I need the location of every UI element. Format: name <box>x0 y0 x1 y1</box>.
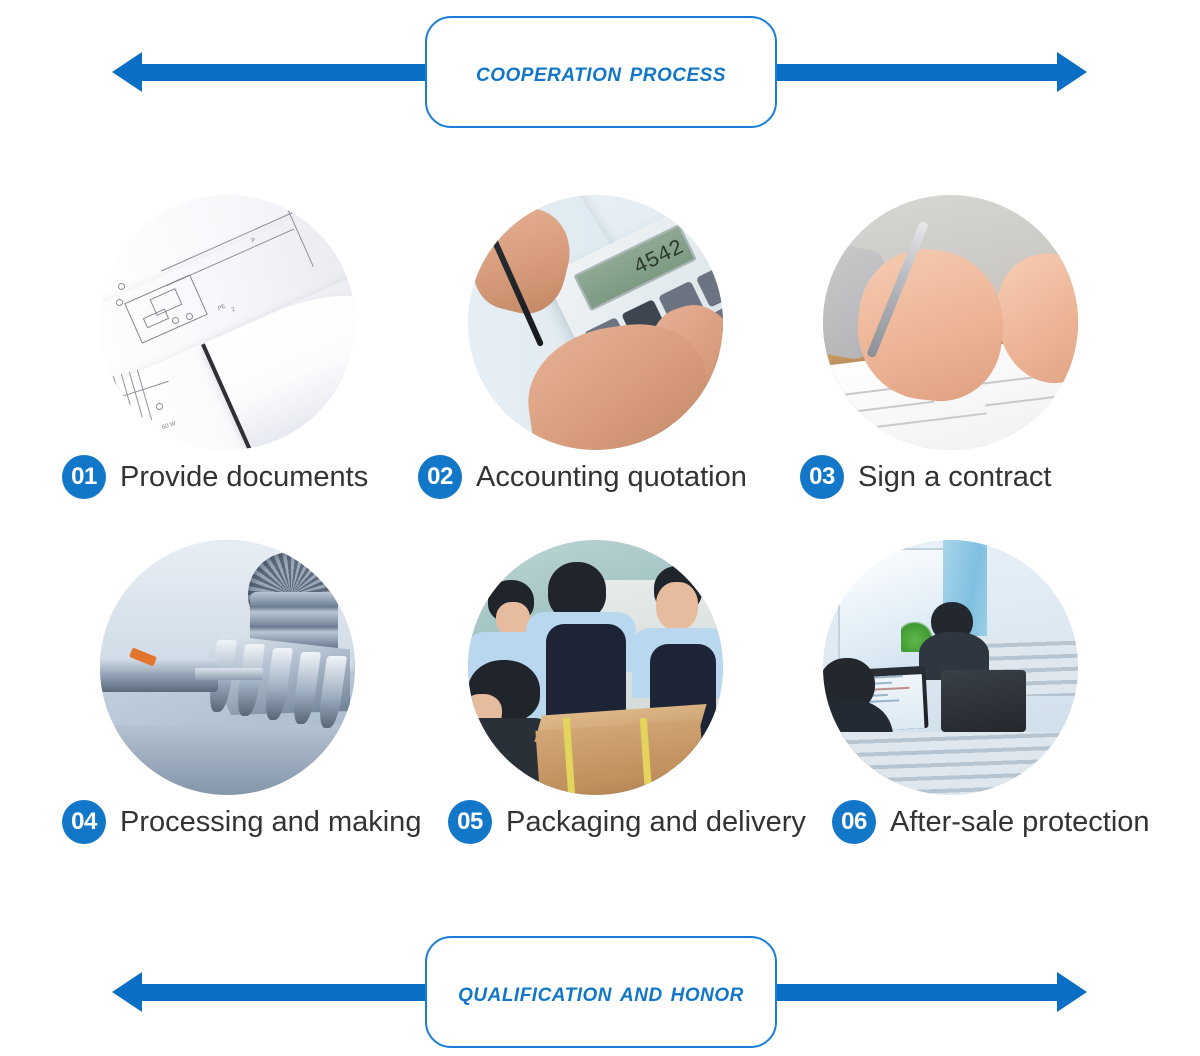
step-04-number-badge: 04 <box>62 800 106 844</box>
arrow-head-right-icon <box>1057 972 1087 1012</box>
step-05-image-packaging <box>468 540 723 795</box>
step-02-number-badge: 02 <box>418 455 462 499</box>
process-steps: PE 2 A 60 W 01 Provide documents <box>0 185 1200 875</box>
arrow-head-left-icon <box>112 972 142 1012</box>
arrow-head-left-icon <box>112 52 142 92</box>
step-03-label: Sign a contract <box>858 461 1051 494</box>
cooperation-process-banner: Cooperation process <box>0 8 1200 136</box>
step-02-label: Accounting quotation <box>476 461 747 494</box>
process-step-03[interactable]: 03 Sign a contract <box>800 185 1200 530</box>
section-title-box-cooperation: Cooperation process <box>425 16 777 128</box>
process-step-06[interactable]: 06 After-sale protection <box>800 530 1200 875</box>
process-steps-row-2: 04 Processing and making <box>0 530 1200 875</box>
process-step-04[interactable]: 04 Processing and making <box>0 530 400 875</box>
section-title-box-qualification: Qualification and honor <box>425 936 777 1048</box>
arrow-shaft-right <box>760 984 1060 1001</box>
process-step-02[interactable]: 4542 02 Accounting q <box>400 185 800 530</box>
step-06-label: After-sale protection <box>890 806 1150 839</box>
qualification-honor-banner: Qualification and honor <box>0 928 1200 1056</box>
step-04-caption: 04 Processing and making <box>62 800 421 844</box>
step-04-label: Processing and making <box>120 806 421 839</box>
step-01-image-blueprints: PE 2 A 60 W <box>100 195 355 450</box>
step-05-number-badge: 05 <box>448 800 492 844</box>
step-01-number-badge: 01 <box>62 455 106 499</box>
step-04-image-cnc-machining <box>100 540 355 795</box>
step-03-number-badge: 03 <box>800 455 844 499</box>
step-01-label: Provide documents <box>120 461 368 494</box>
process-step-01[interactable]: PE 2 A 60 W 01 Provide documents <box>0 185 400 530</box>
step-02-image-calculator: 4542 <box>468 195 723 450</box>
step-06-caption: 06 After-sale protection <box>832 800 1150 844</box>
arrow-shaft-left <box>140 64 450 81</box>
process-step-05[interactable]: 05 Packaging and delivery <box>400 530 800 875</box>
step-05-label: Packaging and delivery <box>506 806 806 839</box>
arrow-shaft-right <box>760 64 1060 81</box>
step-03-image-signing <box>823 195 1078 450</box>
step-03-caption: 03 Sign a contract <box>800 455 1051 499</box>
step-02-caption: 02 Accounting quotation <box>418 455 747 499</box>
section-title-cooperation: Cooperation process <box>476 57 726 88</box>
arrow-head-right-icon <box>1057 52 1087 92</box>
step-05-caption: 05 Packaging and delivery <box>448 800 806 844</box>
step-06-image-office <box>823 540 1078 795</box>
process-steps-row-1: PE 2 A 60 W 01 Provide documents <box>0 185 1200 530</box>
arrow-shaft-left <box>140 984 450 1001</box>
step-06-number-badge: 06 <box>832 800 876 844</box>
section-title-qualification: Qualification and honor <box>458 977 744 1008</box>
step-01-caption: 01 Provide documents <box>62 455 368 499</box>
